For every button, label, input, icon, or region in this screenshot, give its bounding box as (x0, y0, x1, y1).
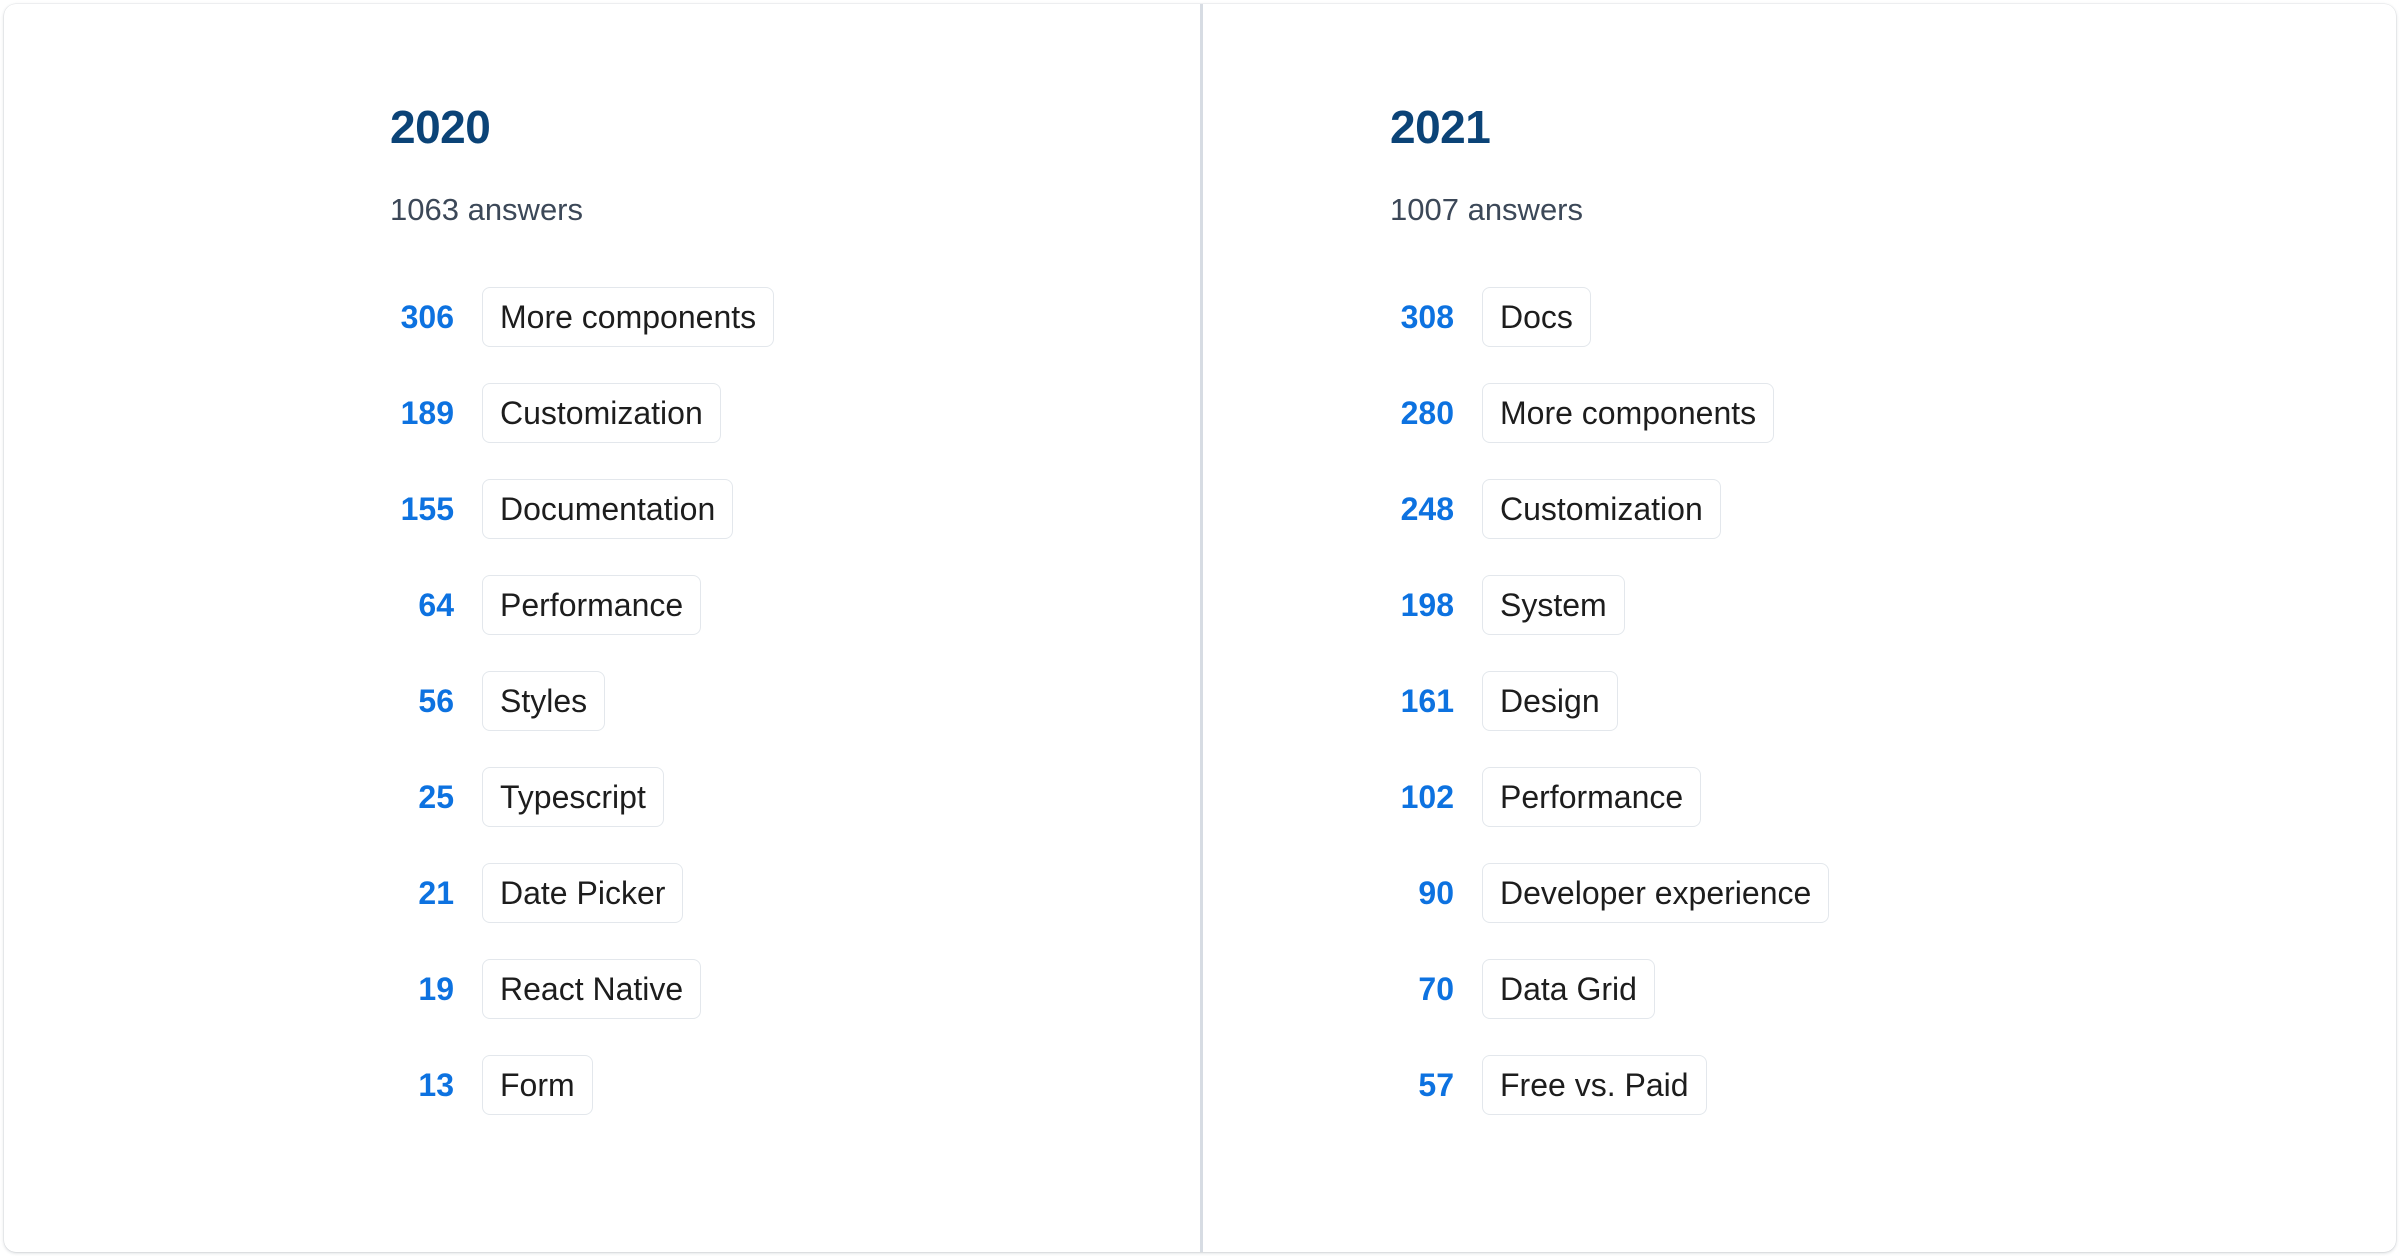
row-label-pill[interactable]: Performance (1482, 767, 1701, 827)
list-item[interactable]: 19 React Native (390, 959, 1200, 1019)
list-item[interactable]: 280 More components (1390, 383, 2396, 443)
row-label-pill[interactable]: More components (482, 287, 774, 347)
answers-count-2021: 1007 answers (1390, 194, 2396, 225)
row-count: 155 (390, 493, 454, 525)
list-item[interactable]: 13 Form (390, 1055, 1200, 1115)
list-item[interactable]: 306 More components (390, 287, 1200, 347)
row-label-pill[interactable]: Design (1482, 671, 1618, 731)
row-label-pill[interactable]: System (1482, 575, 1625, 635)
list-item[interactable]: 90 Developer experience (1390, 863, 2396, 923)
list-item[interactable]: 56 Styles (390, 671, 1200, 731)
page-title-2021: 2021 (1390, 104, 2396, 150)
row-count: 198 (1390, 589, 1454, 621)
row-count: 280 (1390, 397, 1454, 429)
list-item[interactable]: 248 Customization (1390, 479, 2396, 539)
list-item[interactable]: 64 Performance (390, 575, 1200, 635)
row-label-pill[interactable]: Free vs. Paid (1482, 1055, 1707, 1115)
row-count: 57 (1390, 1069, 1454, 1101)
panel-2020: 2020 1063 answers 306 More components 18… (4, 4, 1200, 1252)
row-label-pill[interactable]: Date Picker (482, 863, 683, 923)
list-item[interactable]: 57 Free vs. Paid (1390, 1055, 2396, 1115)
row-label-pill[interactable]: Customization (1482, 479, 1721, 539)
list-item[interactable]: 21 Date Picker (390, 863, 1200, 923)
survey-results-card: 2020 1063 answers 306 More components 18… (4, 4, 2396, 1252)
row-label-pill[interactable]: Data Grid (1482, 959, 1655, 1019)
row-count: 64 (390, 589, 454, 621)
row-count: 21 (390, 877, 454, 909)
row-label-pill[interactable]: Typescript (482, 767, 664, 827)
list-item[interactable]: 25 Typescript (390, 767, 1200, 827)
list-item[interactable]: 70 Data Grid (1390, 959, 2396, 1019)
answers-count-2020: 1063 answers (390, 194, 1200, 225)
row-count: 189 (390, 397, 454, 429)
row-count: 308 (1390, 301, 1454, 333)
row-count: 56 (390, 685, 454, 717)
ranking-list-2020: 306 More components 189 Customization 15… (390, 287, 1200, 1115)
row-count: 161 (1390, 685, 1454, 717)
list-item[interactable]: 102 Performance (1390, 767, 2396, 827)
list-item[interactable]: 189 Customization (390, 383, 1200, 443)
list-item[interactable]: 155 Documentation (390, 479, 1200, 539)
row-label-pill[interactable]: React Native (482, 959, 701, 1019)
row-label-pill[interactable]: Docs (1482, 287, 1591, 347)
row-label-pill[interactable]: Form (482, 1055, 593, 1115)
row-count: 70 (1390, 973, 1454, 1005)
row-label-pill[interactable]: Performance (482, 575, 701, 635)
row-label-pill[interactable]: Customization (482, 383, 721, 443)
row-label-pill[interactable]: Styles (482, 671, 605, 731)
row-count: 90 (1390, 877, 1454, 909)
row-count: 25 (390, 781, 454, 813)
list-item[interactable]: 198 System (1390, 575, 2396, 635)
list-item[interactable]: 308 Docs (1390, 287, 2396, 347)
row-count: 248 (1390, 493, 1454, 525)
list-item[interactable]: 161 Design (1390, 671, 2396, 731)
row-count: 13 (390, 1069, 454, 1101)
row-label-pill[interactable]: More components (1482, 383, 1774, 443)
row-label-pill[interactable]: Developer experience (1482, 863, 1829, 923)
row-label-pill[interactable]: Documentation (482, 479, 733, 539)
page-title-2020: 2020 (390, 104, 1200, 150)
row-count: 19 (390, 973, 454, 1005)
row-count: 102 (1390, 781, 1454, 813)
ranking-list-2021: 308 Docs 280 More components 248 Customi… (1390, 287, 2396, 1115)
panel-2021: 2021 1007 answers 308 Docs 280 More comp… (1200, 4, 2396, 1252)
row-count: 306 (390, 301, 454, 333)
